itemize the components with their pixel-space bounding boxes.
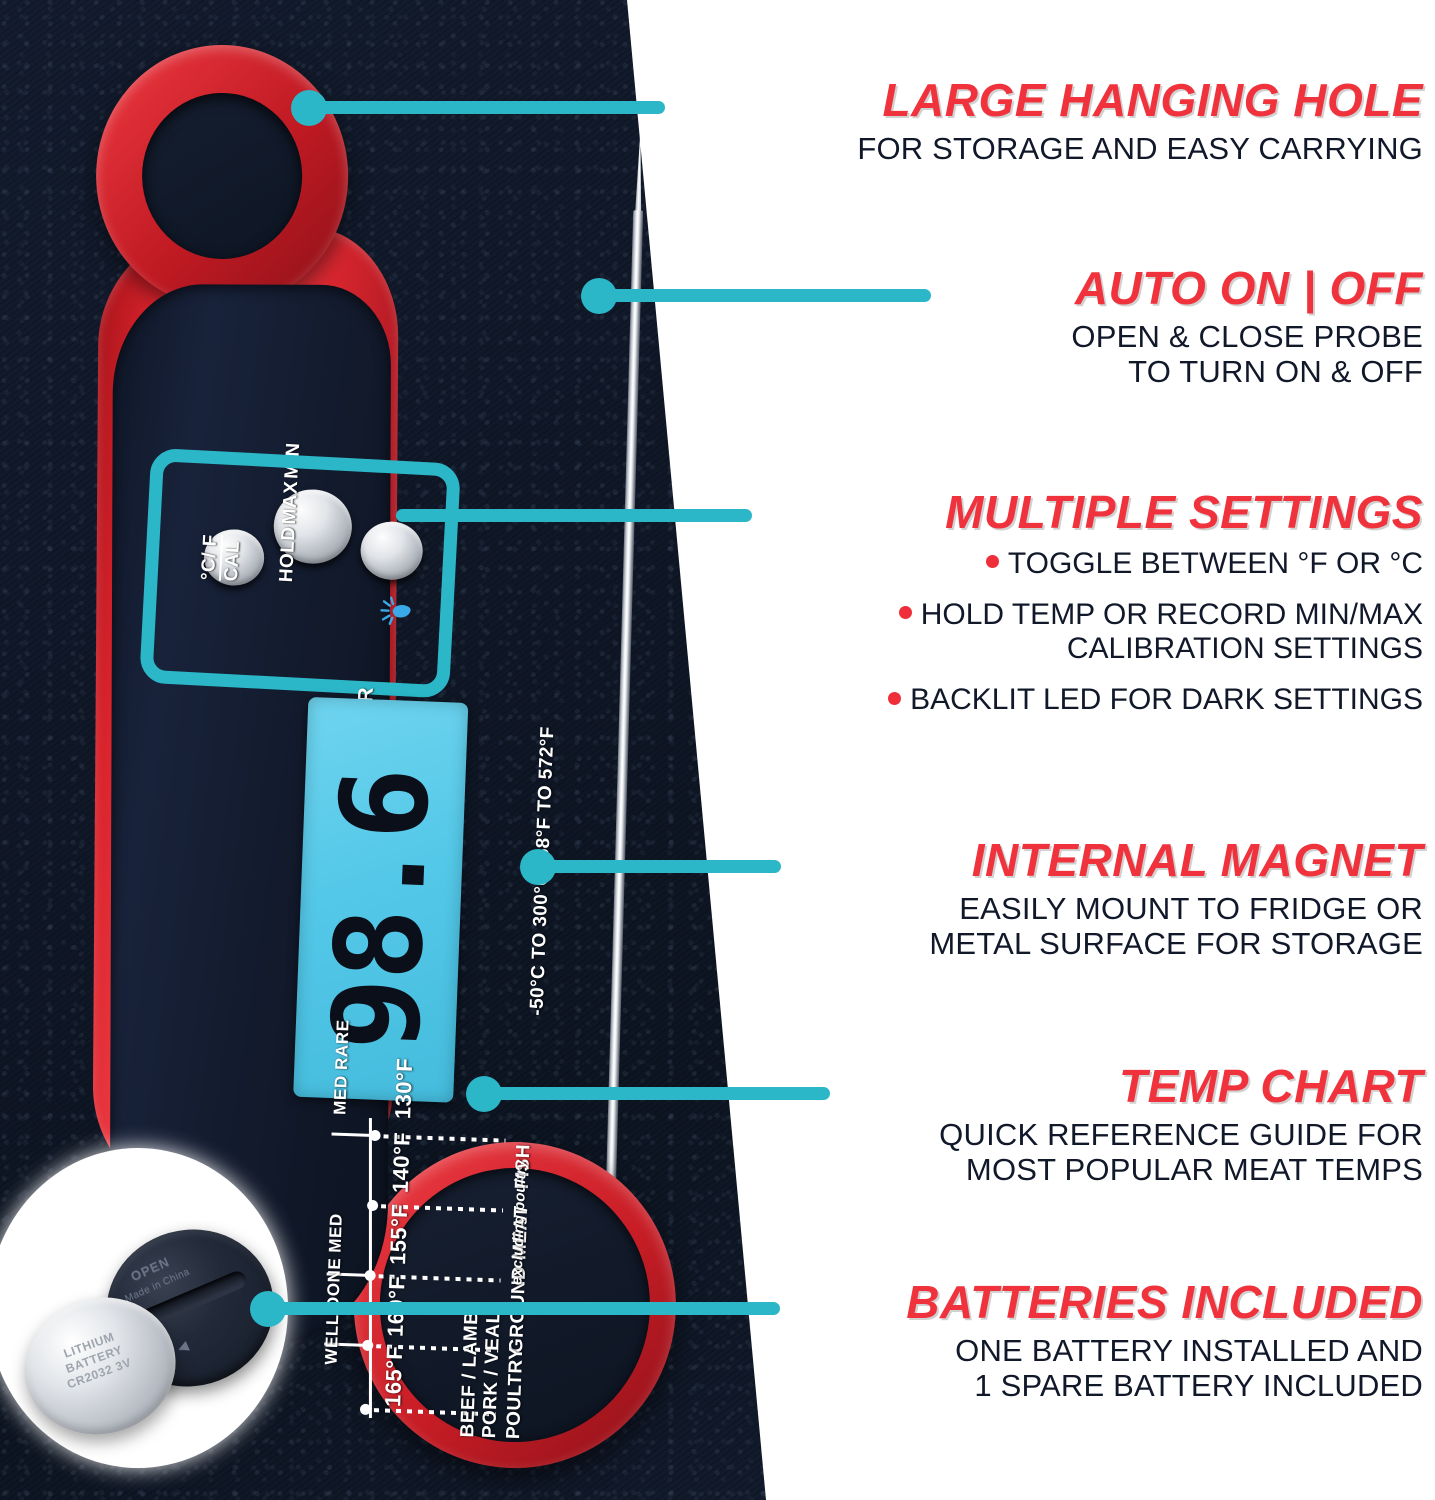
leader-line-hanging-hole (303, 101, 665, 114)
chart-spine (369, 1118, 372, 1418)
bullet-item-backlit: BACKLIT LED FOR DARK SETTINGS (703, 683, 1423, 718)
callout-body-line2: METAL SURFACE FOR STORAGE (763, 926, 1423, 961)
chart-meat-poultry: POULTRY (503, 1347, 528, 1440)
temperature-unit: °F (462, 717, 468, 761)
callout-title: BATTERIES INCLUDED (723, 1278, 1423, 1327)
chart-tick (332, 1133, 374, 1137)
battery-inset: OPEN Made in China ◄ LITHIUM BATTERY CR2… (0, 1148, 288, 1468)
leader-line-temp-chart (478, 1087, 830, 1100)
hanging-hole (141, 92, 304, 261)
callout-temp-chart: TEMP CHART QUICK REFERENCE GUIDE FOR MOS… (803, 1062, 1423, 1187)
leader-dot (291, 90, 327, 126)
chart-doneness-med: MED (325, 1213, 346, 1253)
bullet-dot-icon (899, 606, 912, 619)
bullet-text-line2: CALIBRATION SETTINGS (703, 632, 1423, 667)
chart-temp-140: 140°F (388, 1132, 416, 1194)
callout-body-line1: ONE BATTERY INSTALLED AND (723, 1333, 1423, 1368)
callout-title: MULTIPLE SETTINGS (703, 488, 1423, 537)
callout-body-line1: EASILY MOUNT TO FRIDGE OR (763, 891, 1423, 926)
callout-body-line2: MOST POPULAR MEAT TEMPS (803, 1152, 1423, 1187)
callout-body-line2: TO TURN ON & OFF (863, 354, 1423, 389)
callout-large-hanging-hole: LARGE HANGING HOLE FOR STORAGE AND EASY … (703, 76, 1423, 166)
lcd-screen: 98.6 °F (293, 697, 468, 1103)
callout-title: LARGE HANGING HOLE (703, 76, 1423, 125)
callout-title: INTERNAL MAGNET (763, 836, 1423, 885)
leader-dot (581, 278, 617, 314)
leader-line-internal-magnet (532, 860, 781, 873)
callout-bullet-list: TOGGLE BETWEEN °F OR °C HOLD TEMP OR REC… (703, 547, 1423, 718)
chart-temp-165: 165°F (380, 1345, 408, 1407)
chart-temp-155: 155°F (385, 1204, 413, 1266)
bullet-item-toggle: TOGGLE BETWEEN °F OR °C (703, 547, 1423, 582)
bullet-text: TOGGLE BETWEEN °F OR °C (1008, 547, 1423, 580)
leader-line-batteries (262, 1302, 780, 1315)
leader-line-multiple-settings (396, 509, 752, 522)
callout-multiple-settings: MULTIPLE SETTINGS TOGGLE BETWEEN °F OR °… (703, 488, 1423, 734)
callout-batteries-included: BATTERIES INCLUDED ONE BATTERY INSTALLED… (723, 1278, 1423, 1403)
bullet-item-hold: HOLD TEMP OR RECORD MIN/MAX CALIBRATION … (703, 598, 1423, 668)
callout-body-line1: OPEN & CLOSE PROBE (863, 319, 1423, 354)
callout-title: TEMP CHART (803, 1062, 1423, 1111)
leader-dot (466, 1076, 502, 1112)
callout-auto-on-off: AUTO ON | OFF OPEN & CLOSE PROBE TO TURN… (863, 264, 1423, 389)
callout-internal-magnet: INTERNAL MAGNET EASILY MOUNT TO FRIDGE O… (763, 836, 1423, 961)
leader-dot (250, 1291, 286, 1327)
chart-temp-130: 130°F (390, 1058, 418, 1120)
temp-reference-chart: MED RARE MED WELL DONE 130°F 140°F 155°F… (306, 1102, 648, 1463)
bullet-text: HOLD TEMP OR RECORD MIN/MAX (921, 598, 1423, 631)
chart-doneness-med-rare: MED RARE (330, 1019, 353, 1115)
chart-meat-pork-veal: PORK / VEAL (479, 1311, 505, 1439)
lcd-assembly: DIGITAL THERMOMETER 98.6 °F -50°C TO 300… (257, 680, 523, 1119)
coin-cell-marking: LITHIUM BATTERY CR2032 3V (40, 1321, 149, 1397)
callout-body: FOR STORAGE AND EASY CARRYING (703, 131, 1423, 166)
callout-body-line1: QUICK REFERENCE GUIDE FOR (803, 1117, 1423, 1152)
leader-dot (520, 849, 556, 885)
callout-title: AUTO ON | OFF (863, 264, 1423, 313)
settings-highlight-box (139, 448, 461, 699)
infographic-canvas: °C/ F CAL HOLD MAX MIN (0, 0, 1435, 1500)
bullet-dot-icon (986, 555, 999, 568)
callout-body-line2: 1 SPARE BATTERY INCLUDED (723, 1368, 1423, 1403)
bullet-dot-icon (888, 692, 901, 705)
bullet-text: BACKLIT LED FOR DARK SETTINGS (910, 683, 1423, 716)
chart-node (367, 1200, 378, 1211)
